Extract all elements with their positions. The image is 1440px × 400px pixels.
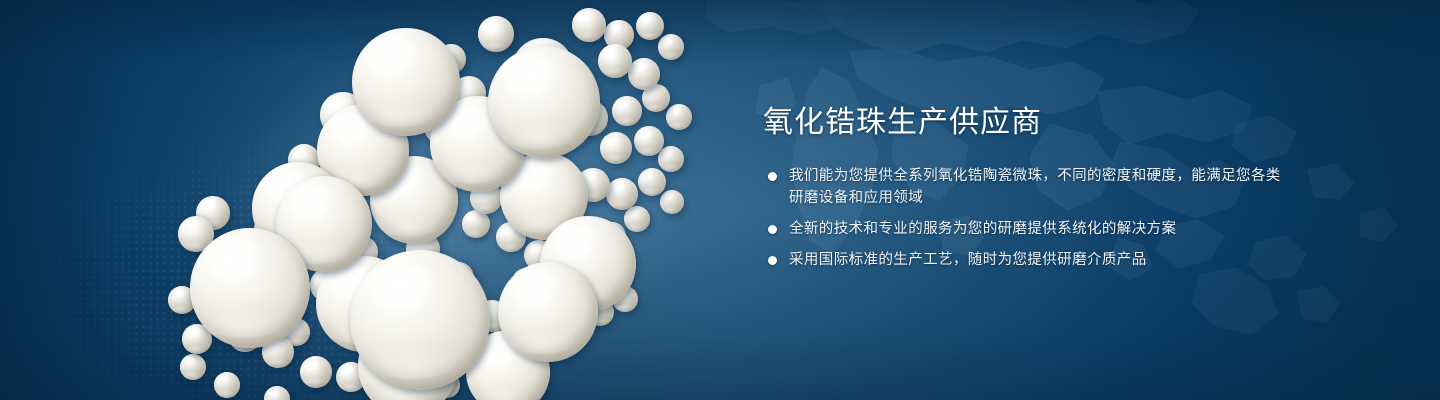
list-item-label: 全新的技术和专业的服务为您的研磨提供系统化的解决方案	[789, 218, 1283, 240]
hero-banner: 氧化锆珠生产供应商 我们能为您提供全系列氧化锆陶瓷微珠，不同的密度和硬度，能满足…	[0, 0, 1440, 400]
banner-copy: 氧化锆珠生产供应商 我们能为您提供全系列氧化锆陶瓷微珠，不同的密度和硬度，能满足…	[763, 104, 1283, 271]
list-item-label: 采用国际标准的生产工艺，随时为您提供研磨介质产品	[789, 249, 1283, 271]
list-item: 我们能为您提供全系列氧化锆陶瓷微珠，不同的密度和硬度，能满足您各类研磨设备和应用…	[763, 165, 1283, 209]
list-item-label: 我们能为您提供全系列氧化锆陶瓷微珠，不同的密度和硬度，能满足您各类研磨设备和应用…	[789, 165, 1283, 209]
feature-list: 我们能为您提供全系列氧化锆陶瓷微珠，不同的密度和硬度，能满足您各类研磨设备和应用…	[763, 165, 1283, 271]
bullet-dot-icon	[768, 256, 777, 265]
bullet-dot-icon	[768, 225, 777, 234]
bullet-dot-icon	[768, 172, 777, 181]
list-item: 采用国际标准的生产工艺，随时为您提供研磨介质产品	[763, 249, 1283, 271]
list-item: 全新的技术和专业的服务为您的研磨提供系统化的解决方案	[763, 218, 1283, 240]
page-title: 氧化锆珠生产供应商	[763, 104, 1283, 142]
